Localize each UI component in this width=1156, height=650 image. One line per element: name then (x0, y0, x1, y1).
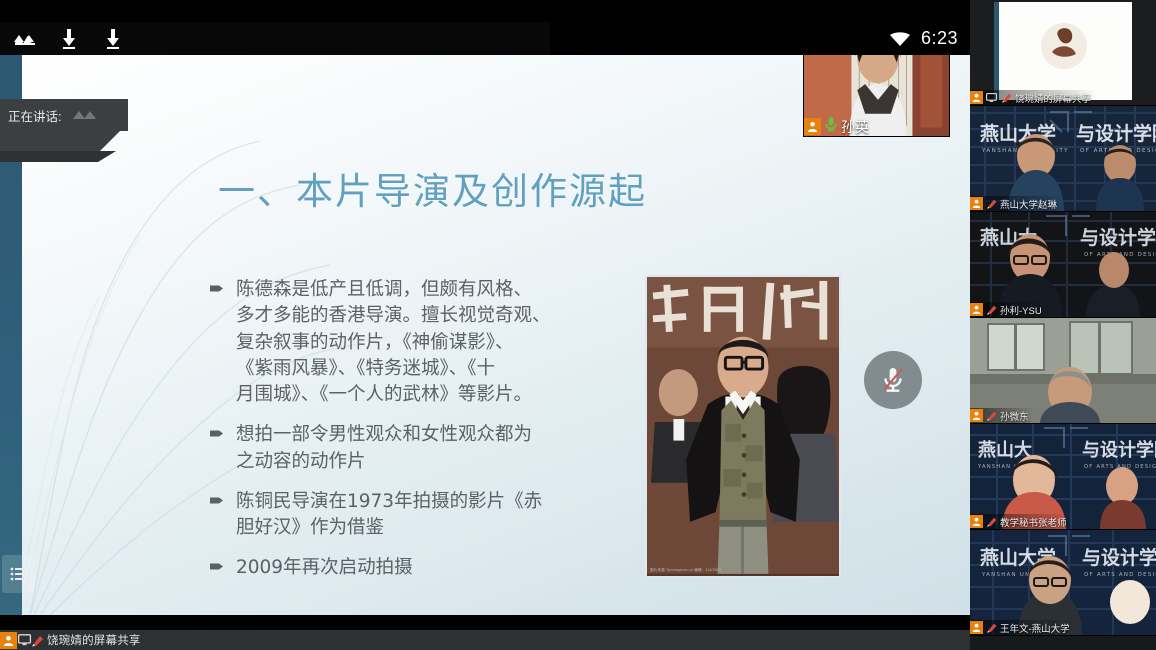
now-speaking-label: 正在讲话: (8, 106, 61, 125)
svg-text:与设计学院: 与设计学院 (1076, 122, 1156, 145)
arrow-bullet-icon (210, 489, 236, 542)
screen-share-icon (985, 621, 998, 634)
svg-text:与设计学院: 与设计学院 (1082, 439, 1156, 461)
participant-label: 王年文-燕山大学 (970, 620, 1075, 635)
top-black-strip (0, 0, 970, 22)
slide-list-menu-button[interactable] (2, 555, 34, 593)
taskbar-item-label: 饶琬婧的屏幕共享 (44, 632, 141, 648)
list-item: 陈德森是低产且低调，但颇有风格、 多才多能的香港导演。擅长视觉奇观、 复杂叙事的… (210, 277, 570, 408)
audience-icon[interactable] (12, 27, 38, 51)
list-item-text: 陈德森是低产且低调，但颇有风格、 多才多能的香港导演。擅长视觉奇观、 复杂叙事的… (236, 277, 551, 408)
participant-tile-5[interactable]: 燕山大 与设计学院 YANSHAN UNIV OF ARTS AND DESIG… (970, 424, 1156, 530)
status-bar: 6:23 (550, 22, 970, 55)
participant-tile-4[interactable]: 孙微东 (970, 318, 1156, 424)
list-item-text: 想拍一部令男性观众和女性观众都为 之动容的动作片 (236, 422, 532, 475)
shared-screen-area: 6:23 (0, 0, 970, 650)
participant-label: 教学秘书张老师 (970, 514, 1072, 529)
list-menu-icon (10, 567, 26, 581)
screen-share-icon (985, 409, 998, 422)
slide-title: 一、本片导演及创作源起 (218, 161, 647, 215)
monitor-icon (17, 633, 31, 647)
arrow-bullet-icon (210, 422, 236, 475)
participant-label: 燕山大学赵琳 (970, 196, 1062, 211)
person-icon (970, 197, 983, 210)
participant-name: 王年文-燕山大学 (1000, 621, 1070, 635)
mute-microphone-button[interactable] (864, 351, 922, 409)
participant-tile-screen-share[interactable]: 饶琬婧的屏幕共享 (970, 0, 1156, 106)
download-icon-1[interactable] (56, 27, 82, 51)
person-icon (970, 621, 983, 634)
svg-text:燕山大: 燕山大 (978, 439, 1032, 461)
taskbar[interactable]: 饶琬婧的屏幕共享 (0, 630, 970, 650)
self-view-name-row: 孙英 (804, 117, 873, 136)
meeting-screen: 6:23 (0, 0, 1156, 650)
list-item: 想拍一部令男性观众和女性观众都为 之动容的动作片 (210, 422, 570, 475)
list-item-text: 陈铜民导演在1973年拍摄的影片《赤 胆好汉》作为借鉴 (236, 489, 542, 542)
slide-canvas[interactable]: 一、本片导演及创作源起 陈德森是低产且低调，但颇有风格、 多才多能的香港导演。擅… (0, 55, 970, 615)
screen-share-icon (985, 515, 998, 528)
participant-tile-2[interactable]: 燕山大学 与设计学院 YANSHAN UNIVERSITY OF ARTS AN… (970, 106, 1156, 212)
monitor-icon (985, 91, 998, 104)
tooltip-tail (0, 131, 130, 173)
slide-bullet-list: 陈德森是低产且低调，但颇有风格、 多才多能的香港导演。擅长视觉奇观、 复杂叙事的… (210, 277, 570, 596)
taskbar-item-screen-share[interactable]: 饶琬婧的屏幕共享 (0, 630, 141, 650)
participant-label: 孙微东 (970, 408, 1034, 423)
participant-tile-3[interactable]: 燕山大 与设计学院 OF ARTS AND DESIGN (970, 212, 1156, 318)
participant-name: 孙微东 (1000, 409, 1029, 423)
participant-name: 孙利-YSU (1000, 303, 1042, 317)
person-icon (970, 515, 983, 528)
screen-share-icon (31, 633, 44, 647)
svg-text:OF ARTS AND DESIGN: OF ARTS AND DESIGN (1084, 572, 1156, 578)
wifi-icon (889, 31, 911, 47)
participant-name: 燕山大学赵琳 (1000, 197, 1057, 211)
microphone-muted-icon (876, 363, 910, 397)
participant-tile-6[interactable]: 燕山大学 与设计学院 YANSHAN UNIVERSITY OF ARTS AN… (970, 530, 1156, 636)
participant-strip[interactable]: 饶琬婧的屏幕共享 燕山大学 与设计学院 (970, 0, 1156, 650)
audience-icon (72, 108, 98, 127)
screen-share-icon (1000, 91, 1013, 104)
director-photo: 图片来源 Tphotophoto.cn 编辑：113/2007 (645, 275, 841, 578)
person-icon (0, 632, 17, 649)
person-icon (804, 118, 821, 135)
svg-text:与设计学院: 与设计学院 (1082, 546, 1156, 569)
person-icon (970, 91, 983, 104)
arrow-bullet-icon (210, 555, 236, 581)
photo-content (647, 277, 839, 574)
photo-credit: 图片来源 Tphotophoto.cn 编辑：113/2007 (650, 568, 721, 573)
list-item: 2009年再次启动拍摄 (210, 555, 570, 581)
participant-name: 饶琬婧的屏幕共享 (1015, 91, 1091, 105)
person-icon (970, 409, 983, 422)
person-icon (970, 303, 983, 316)
now-speaking-tooltip: 正在讲话: (0, 99, 128, 131)
participant-label: 孙利-YSU (970, 302, 1047, 317)
screen-share-icon (985, 303, 998, 316)
microphone-icon (824, 116, 838, 137)
svg-text:与设计学院: 与设计学院 (1080, 226, 1156, 249)
participant-name: 教学秘书张老师 (1000, 515, 1067, 529)
screen-share-icon (985, 197, 998, 210)
arrow-bullet-icon (210, 277, 236, 408)
list-item: 陈铜民导演在1973年拍摄的影片《赤 胆好汉》作为借鉴 (210, 489, 570, 542)
list-item-text: 2009年再次启动拍摄 (236, 555, 413, 581)
self-view-username: 孙英 (841, 117, 869, 137)
status-clock: 6:23 (921, 28, 958, 49)
participant-label: 饶琬婧的屏幕共享 (970, 90, 1096, 105)
download-icon-2[interactable] (100, 27, 126, 51)
